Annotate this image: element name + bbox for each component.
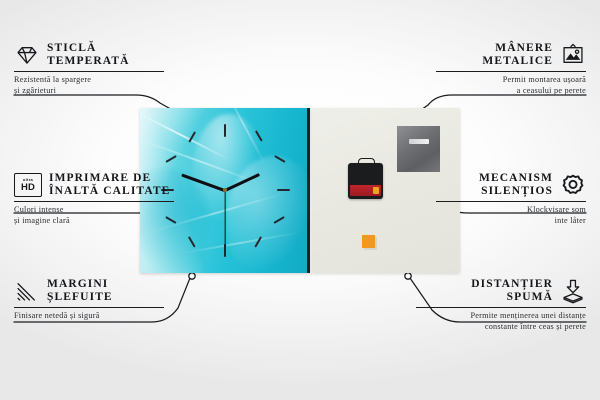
hour-tick-12	[224, 124, 226, 137]
feature-title-row: DISTANȚIER SPUMĂ	[416, 278, 586, 304]
hour-tick-10	[165, 155, 176, 162]
ultra-hd-badge-icon: ultra HD	[14, 173, 42, 197]
feature-subtitle-line2: și zgârieturi	[14, 86, 56, 95]
feature-title-line2: ȘLEFUITE	[47, 291, 113, 303]
feature-title: IMPRIMARE DE ÎNALTĂ CALITATE	[49, 172, 170, 198]
feature-title: MECANISM SILENȚIOS	[479, 172, 553, 198]
feature-title-line1: MÂNERE	[495, 42, 553, 54]
feature-title: MÂNERE METALICE	[482, 42, 553, 68]
battery	[350, 185, 381, 196]
hanger-slot	[409, 139, 429, 144]
feature-title: DISTANȚIER SPUMĂ	[471, 278, 553, 304]
feature-subtitle-line1: Permite menținerea unei distanțe	[470, 311, 586, 320]
feature-subtitle: Culori intense și imagine clară	[14, 205, 174, 226]
feature-title: STICLĂ TEMPERATĂ	[47, 42, 130, 68]
feature-subtitle-line2: a ceasului pe perete	[517, 86, 586, 95]
feature-high-quality-print: ultra HD IMPRIMARE DE ÎNALTĂ CALITATE Cu…	[14, 172, 174, 226]
feature-tempered-glass: STICLĂ TEMPERATĂ Rezistentă la spargere …	[14, 42, 164, 96]
feature-title-line2: SILENȚIOS	[481, 185, 553, 197]
feature-rule	[416, 307, 586, 308]
feature-title-row: ultra HD IMPRIMARE DE ÎNALTĂ CALITATE	[14, 172, 174, 198]
endpoint-dot-edges	[189, 273, 195, 279]
hour-tick-3	[277, 189, 290, 191]
metal-hanger-plate	[397, 126, 440, 172]
feature-rule	[436, 71, 586, 72]
feature-polished-edges: MARGINI ȘLEFUITE Finisare netedă și sigu…	[14, 278, 164, 322]
feature-subtitle: Finisare netedă și sigură	[14, 311, 164, 322]
clock-hub-pin	[223, 188, 227, 192]
feature-title-line1: MECANISM	[479, 172, 553, 184]
infographic-canvas: STICLĂ TEMPERATĂ Rezistentă la spargere …	[0, 0, 600, 400]
beveled-edges-icon	[14, 278, 40, 304]
feature-title-line2: TEMPERATĂ	[47, 55, 130, 67]
ultra-hd-badge-large: HD	[21, 183, 35, 193]
feature-title-line2: SPUMĂ	[507, 291, 553, 303]
feature-title-line2: ÎNALTĂ CALITATE	[49, 185, 170, 197]
feature-foam-spacer: DISTANȚIER SPUMĂ Permite menținerea unei…	[416, 278, 586, 332]
feature-rule	[14, 201, 174, 202]
feature-title-line2: METALICE	[482, 55, 553, 67]
feature-rule	[14, 307, 164, 308]
feature-title-line1: MARGINI	[47, 278, 108, 290]
diamond-icon	[14, 42, 40, 68]
feature-subtitle-line2: constante între ceas și perete	[485, 322, 586, 331]
feature-subtitle: Permite menținerea unei distanțe constan…	[416, 311, 586, 332]
feature-title-row: MARGINI ȘLEFUITE	[14, 278, 164, 304]
quartz-mechanism	[348, 163, 383, 199]
second-hand	[224, 190, 225, 246]
feature-metal-handles: MÂNERE METALICE Permit montarea ușoară a…	[436, 42, 586, 96]
feature-title-row: MÂNERE METALICE	[436, 42, 586, 68]
feature-subtitle: Permit montarea ușoară a ceasului pe per…	[436, 75, 586, 96]
feature-silent-mechanism: MECANISM SILENȚIOS Klockvisare som inte …	[436, 172, 586, 226]
picture-frame-hanger-icon	[560, 42, 586, 68]
feature-title-row: STICLĂ TEMPERATĂ	[14, 42, 164, 68]
feature-subtitle-line2: și imagine clară	[14, 216, 70, 225]
feature-title-row: MECANISM SILENȚIOS	[436, 172, 586, 198]
endpoint-dot-spacer	[405, 273, 411, 279]
feature-subtitle: Rezistentă la spargere și zgârieturi	[14, 75, 164, 96]
mechanism-hook	[358, 158, 375, 167]
feature-title: MARGINI ȘLEFUITE	[47, 278, 113, 304]
foam-spacer-pad	[362, 235, 375, 248]
feature-title-line1: STICLĂ	[47, 42, 96, 54]
feature-title-line1: DISTANȚIER	[471, 278, 553, 290]
feature-subtitle: Klockvisare som inte låter	[436, 205, 586, 226]
feature-subtitle-line1: Finisare netedă și sigură	[14, 311, 100, 320]
feature-subtitle-line1: Klockvisare som	[527, 205, 586, 214]
feature-subtitle-line1: Rezistentă la spargere	[14, 75, 91, 84]
feature-title-line1: IMPRIMARE DE	[49, 172, 151, 184]
feature-rule	[436, 201, 586, 202]
battery-terminal	[373, 187, 379, 194]
foam-spacer-arrow-icon	[560, 278, 586, 304]
feature-subtitle-line1: Culori intense	[14, 205, 64, 214]
feature-subtitle-line2: inte låter	[555, 216, 586, 225]
gear-icon	[560, 172, 586, 198]
feature-rule	[14, 71, 164, 72]
product-image	[140, 108, 460, 273]
feature-subtitle-line1: Permit montarea ușoară	[503, 75, 586, 84]
